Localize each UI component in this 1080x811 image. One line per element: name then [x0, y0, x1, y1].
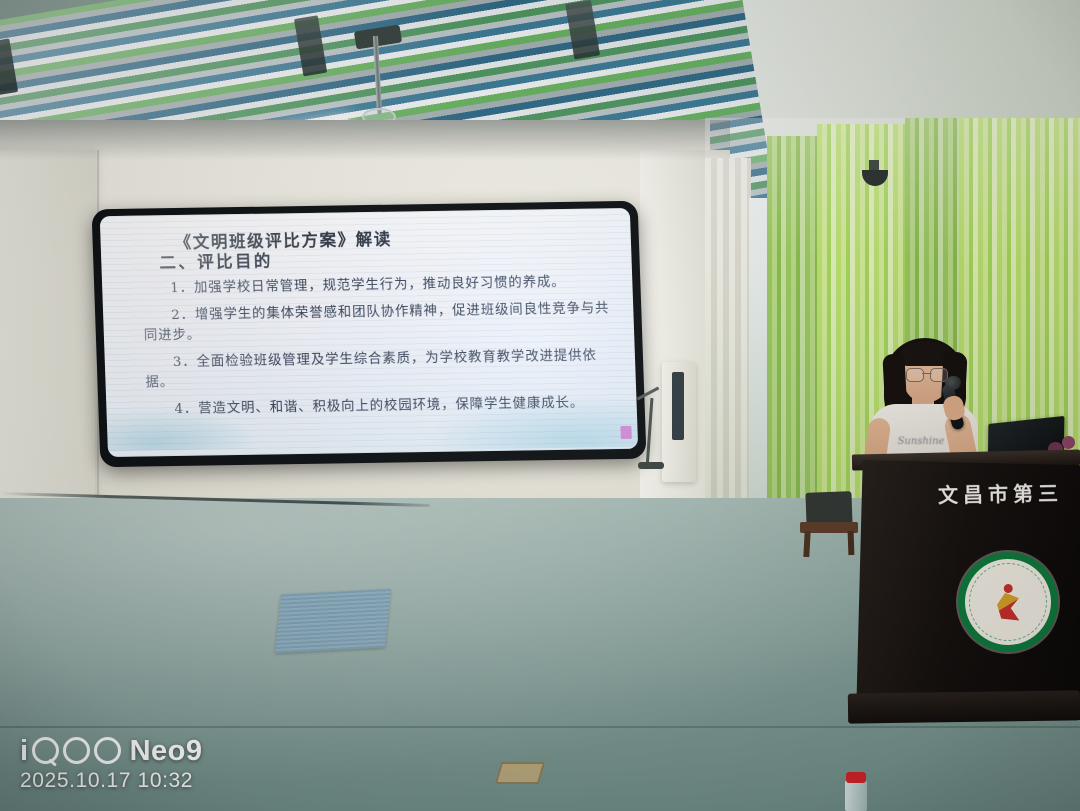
- crest-figure: [995, 583, 1022, 623]
- slide-content: 《文明班级评比方案》解读 二、评比目的 1．加强学校日常管理，规范学生行为，推动…: [140, 222, 619, 420]
- microphone-stand-base: [638, 462, 664, 469]
- slide-item-3: 3．全面检验班级管理及学生综合素质，为学校教育教学改进提供依据。: [145, 346, 618, 394]
- left-wall-column: [0, 150, 95, 550]
- slide-item-2: 2．增强学生的集体荣誉感和团队协作精神，促进班级间良性竞争与共同进步。: [143, 299, 616, 347]
- bottle-cap: [846, 772, 866, 783]
- podium-base: [848, 690, 1080, 723]
- floor-mat-patch: [275, 589, 391, 653]
- screen-pixel-artifact: [620, 426, 631, 439]
- chair-leg: [848, 531, 855, 555]
- screen-surface: 《文明班级评比方案》解读 二、评比目的 1．加强学校日常管理，规范学生行为，推动…: [100, 208, 638, 457]
- slide-item-1: 1．加强学校日常管理，规范学生行为，推动良好习惯的养成。: [142, 272, 615, 300]
- water-bottle[interactable]: [845, 779, 867, 811]
- eyeglasses-icon: [906, 368, 948, 380]
- crest-figure-body: [997, 593, 1019, 621]
- lens-left: [906, 368, 924, 382]
- floor-access-plate: [495, 762, 545, 784]
- podium-engraved-text: 文昌市第三: [938, 477, 1080, 509]
- projection-screen[interactable]: 《文明班级评比方案》解读 二、评比目的 1．加强学校日常管理，规范学生行为，推动…: [91, 201, 646, 467]
- photograph: 《文明班级评比方案》解读 二、评比目的 1．加强学校日常管理，规范学生行为，推动…: [0, 0, 1080, 811]
- crest-figure-head: [1004, 584, 1013, 593]
- air-conditioner-vent: [672, 372, 684, 440]
- flower: [1062, 436, 1075, 449]
- wall-top-shadow: [0, 120, 730, 160]
- tshirt-script-text: Sunshine: [888, 436, 954, 447]
- floor-seam-line: [0, 726, 1080, 728]
